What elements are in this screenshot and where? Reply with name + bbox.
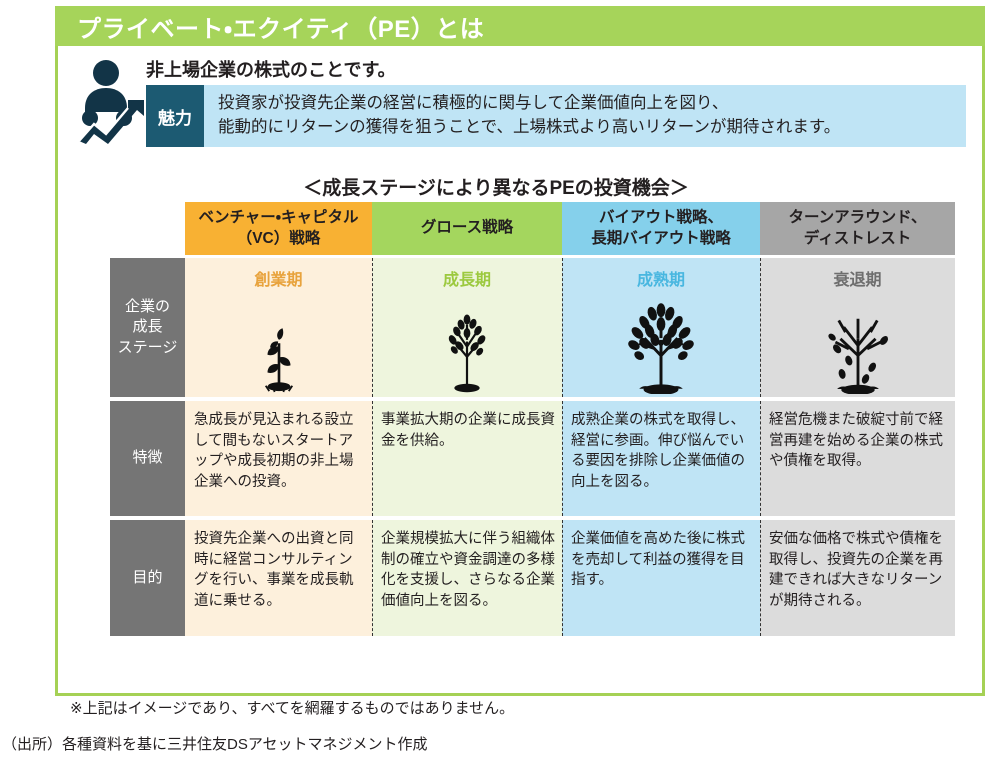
feature-text-buyout: 成熟企業の株式を取得し、経営に参画。伸び悩んでいる要因を排除し企業価値の向上を図… bbox=[562, 401, 760, 498]
feature-text-growth: 事業拡大期の企業に成長資金を供給。 bbox=[372, 401, 562, 457]
young-tree-icon bbox=[372, 290, 562, 397]
investment-stage-matrix: ベンチャー・キャピタル （VC）戦略 グロース戦略 バイアウト戦略、 長期バイア… bbox=[110, 202, 955, 636]
purpose-cell-vc: 投資先企業への出資と同時に経営コンサルティングを行い、事業を成長軌道に乗せる。 bbox=[185, 520, 372, 636]
appeal-callout: 魅力 投資家が投資先企業の経営に積極的に関与して企業価値向上を図り、 能動的にリ… bbox=[146, 85, 966, 147]
column-header-buyout: バイアウト戦略、 長期バイアウト戦略 bbox=[562, 202, 760, 255]
feature-cell-vc: 急成長が見込まれる設立して間もないスタートアップや成長初期の非上場企業への投資。 bbox=[185, 401, 372, 516]
column-header-vc: ベンチャー・キャピタル （VC）戦略 bbox=[185, 202, 372, 255]
purpose-text-turnaround: 安価な価格で株式や債権を取得し、投資先の企業を再建できれば大きなリターンが期待さ… bbox=[760, 520, 955, 617]
matrix-subtitle: ＜成長ステージにより異なるPEの投資機会＞ bbox=[0, 173, 992, 200]
row-label-purpose: 目的 bbox=[110, 520, 185, 636]
stage-label-growth: 成長期 bbox=[372, 266, 562, 290]
row-label-growth-stage: 企業の 成長 ステージ bbox=[110, 258, 185, 397]
purpose-cell-turnaround: 安価な価格で株式や債権を取得し、投資先の企業を再建できれば大きなリターンが期待さ… bbox=[760, 520, 955, 636]
purpose-cell-buyout: 企業価値を高めた後に株式を売却して利益の獲得を目指す。 bbox=[562, 520, 760, 636]
header-corner-spacer bbox=[110, 202, 185, 255]
appeal-badge: 魅力 bbox=[146, 85, 204, 147]
disclaimer-note: ※上記はイメージであり、すべてを網羅するものではありません。 bbox=[70, 697, 514, 718]
stage-cell-founding: 創業期 bbox=[185, 258, 372, 397]
feature-text-turnaround: 経営危機また破綻寸前で経営再建を始める企業の株式や債権を取得。 bbox=[760, 401, 955, 478]
intro-lead-text: 非上場企業の株式のことです。 bbox=[146, 56, 396, 82]
seedling-icon bbox=[185, 290, 372, 397]
page-title: プライベート・エクイティ（PE）とは bbox=[77, 9, 484, 44]
stage-cell-growth: 成長期 bbox=[372, 258, 562, 397]
stage-label-decline: 衰退期 bbox=[760, 266, 955, 290]
matrix-header-row: ベンチャー・キャピタル （VC）戦略 グロース戦略 バイアウト戦略、 長期バイア… bbox=[110, 202, 955, 255]
purpose-text-growth: 企業規模拡大に伴う組織体制の確立や資金調達の多様化を支援し、さらなる企業価値向上… bbox=[372, 520, 562, 617]
feature-cell-growth: 事業拡大期の企業に成長資金を供給。 bbox=[372, 401, 562, 516]
column-header-growth: グロース戦略 bbox=[372, 202, 562, 255]
stage-cell-decline: 衰退期 bbox=[760, 258, 955, 397]
source-note: （出所）各種資料を基に三井住友DSアセットマネジメント作成 bbox=[2, 733, 428, 754]
appeal-body: 投資家が投資先企業の経営に積極的に関与して企業価値向上を図り、 能動的にリターン… bbox=[204, 85, 966, 147]
stage-cell-mature: 成熟期 bbox=[562, 258, 760, 397]
appeal-line-2: 能動的にリターンの獲得を狙うことで、上場株式より高いリターンが期待されます。 bbox=[218, 116, 966, 140]
feature-cell-turnaround: 経営危機また破綻寸前で経営再建を始める企業の株式や債権を取得。 bbox=[760, 401, 955, 516]
feature-text-vc: 急成長が見込まれる設立して間もないスタートアップや成長初期の非上場企業への投資。 bbox=[185, 401, 372, 498]
column-header-turnaround: ターンアラウンド、 ディストレスト bbox=[760, 202, 955, 255]
row-label-feature: 特徴 bbox=[110, 401, 185, 516]
matrix-purpose-row: 目的 投資先企業への出資と同時に経営コンサルティングを行い、事業を成長軌道に乗せ… bbox=[110, 520, 955, 636]
mature-tree-icon bbox=[562, 290, 760, 397]
stage-label-founding: 創業期 bbox=[185, 266, 372, 290]
intro-section: 非上場企業の株式のことです。 魅力 投資家が投資先企業の経営に積極的に関与して企… bbox=[60, 52, 980, 160]
bare-tree-icon bbox=[760, 290, 955, 397]
purpose-text-buyout: 企業価値を高めた後に株式を売却して利益の獲得を目指す。 bbox=[562, 520, 760, 597]
purpose-text-vc: 投資先企業への出資と同時に経営コンサルティングを行い、事業を成長軌道に乗せる。 bbox=[185, 520, 372, 617]
matrix-feature-row: 特徴 急成長が見込まれる設立して間もないスタートアップや成長初期の非上場企業への… bbox=[110, 401, 955, 516]
feature-cell-buyout: 成熟企業の株式を取得し、経営に参画。伸び悩んでいる要因を排除し企業価値の向上を図… bbox=[562, 401, 760, 516]
stage-label-mature: 成熟期 bbox=[562, 266, 760, 290]
appeal-line-1: 投資家が投資先企業の経営に積極的に関与して企業価値向上を図り、 bbox=[218, 92, 966, 116]
purpose-cell-growth: 企業規模拡大に伴う組織体制の確立や資金調達の多様化を支援し、さらなる企業価値向上… bbox=[372, 520, 562, 636]
investor-growth-arrow-icon bbox=[68, 56, 158, 148]
title-bar: プライベート・エクイティ（PE）とは bbox=[55, 6, 985, 46]
matrix-stage-row: 企業の 成長 ステージ 創業期 bbox=[110, 258, 955, 397]
